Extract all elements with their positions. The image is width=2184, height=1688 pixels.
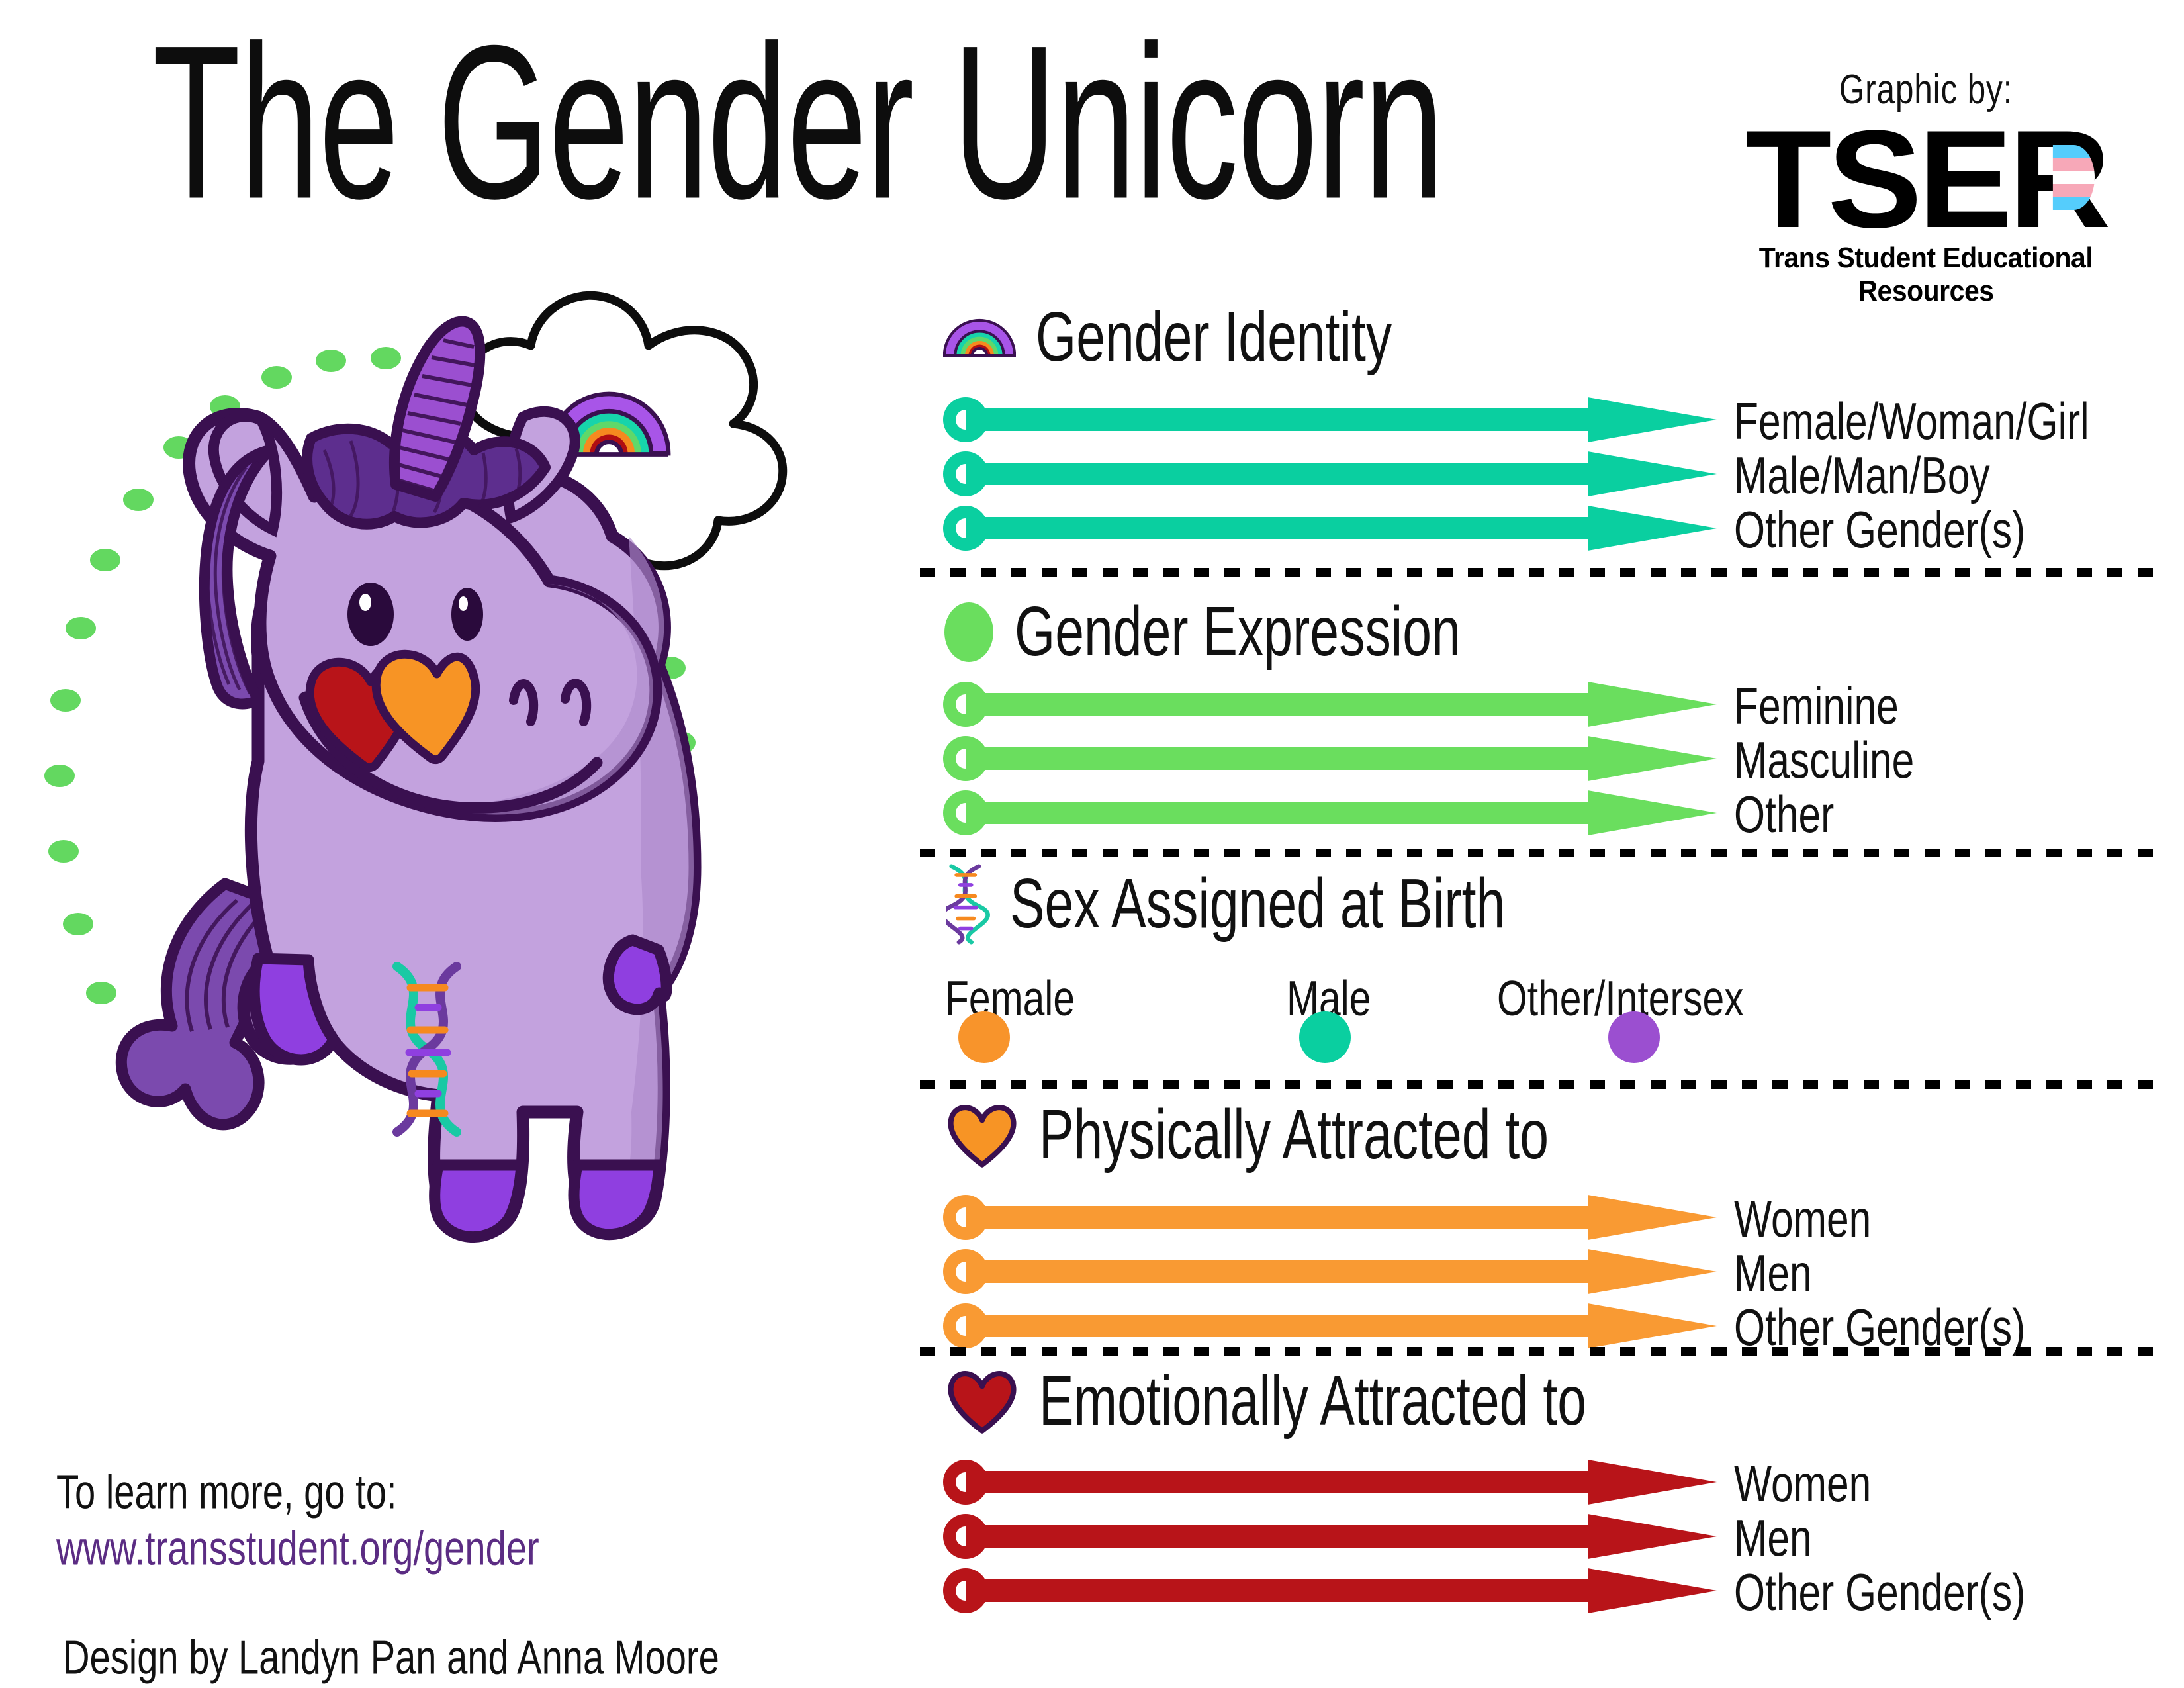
row-label: Other Gender(s) xyxy=(1734,1564,2025,1622)
row-label: Female/Woman/Girl xyxy=(1734,393,2089,451)
trans-flag-icon xyxy=(2053,145,2095,210)
row-arrowhead xyxy=(1588,1303,1717,1348)
section-title: Gender Expression xyxy=(1015,592,1461,673)
row-shaft xyxy=(966,463,1588,485)
sab-dot-intersex[interactable] xyxy=(1608,1011,1660,1063)
section-divider-2 xyxy=(920,849,2154,857)
sab-dot-male[interactable] xyxy=(1299,1011,1351,1063)
row-arrowhead xyxy=(1588,1514,1717,1559)
row-label: Men xyxy=(1734,1244,1812,1303)
row-label: Other Gender(s) xyxy=(1734,501,2025,560)
row-label: Women xyxy=(1734,1190,1871,1249)
row-arrowhead xyxy=(1588,1249,1717,1294)
design-credit-label: Design by Landyn Pan and Anna Moore xyxy=(63,1629,719,1685)
section-title: Sex Assigned at Birth xyxy=(1010,865,1505,945)
tser-subtitle: Trans Student Educational Resources xyxy=(1735,242,2117,308)
dna-icon xyxy=(946,864,990,945)
row-shaft xyxy=(966,747,1588,770)
row-shaft xyxy=(966,408,1588,431)
row-arrowhead xyxy=(1588,451,1717,496)
row-arrowhead xyxy=(1588,682,1717,727)
row-shaft xyxy=(966,802,1588,824)
sab-dot-female[interactable] xyxy=(958,1011,1010,1063)
row-shaft xyxy=(966,1525,1588,1548)
row-arrowhead xyxy=(1588,790,1717,835)
red-heart-icon xyxy=(945,1368,1019,1434)
row-label: Feminine xyxy=(1734,677,1899,736)
section-header-physically-attracted-to: Physically Attracted to xyxy=(945,1099,1661,1172)
orange-heart-icon xyxy=(945,1102,1019,1168)
row-shaft xyxy=(966,1315,1588,1337)
row-arrowhead xyxy=(1588,736,1717,781)
row-shaft xyxy=(966,1579,1588,1602)
row-shaft xyxy=(966,1260,1588,1283)
rainbow-icon xyxy=(943,315,1016,360)
green-circle-icon xyxy=(943,602,995,663)
section-divider-4 xyxy=(920,1347,2154,1356)
row-shaft xyxy=(966,693,1588,716)
section-header-sex-assigned-at-birth: Sex Assigned at Birth xyxy=(946,864,1614,945)
row-label: Women xyxy=(1734,1455,1871,1514)
row-label: Other xyxy=(1734,786,1834,845)
section-header-gender-expression: Gender Expression xyxy=(943,596,1559,669)
sab-label-female: Female xyxy=(945,970,1075,1027)
row-label: Masculine xyxy=(1734,731,1914,790)
row-shaft xyxy=(966,1471,1588,1493)
section-title: Physically Attracted to xyxy=(1039,1096,1549,1176)
tser-wordmark: TSER xyxy=(1745,113,2107,246)
row-label: Male/Man/Boy xyxy=(1734,447,1990,506)
gender-unicorn-character xyxy=(60,285,874,1397)
section-title: Emotionally Attracted to xyxy=(1039,1362,1586,1442)
learn-more-label: To learn more, go to: xyxy=(56,1464,397,1519)
tser-logo: Graphic by: TSER Trans Student Education… xyxy=(1721,66,2131,308)
row-shaft xyxy=(966,1206,1588,1229)
row-label: Men xyxy=(1734,1509,1812,1568)
row-arrowhead xyxy=(1588,1568,1717,1613)
row-arrowhead xyxy=(1588,506,1717,551)
section-divider-1 xyxy=(920,568,2154,577)
row-arrowhead xyxy=(1588,397,1717,442)
section-title: Gender Identity xyxy=(1036,298,1392,378)
website-link[interactable]: www.transstudent.org/gender xyxy=(56,1520,539,1575)
section-divider-3 xyxy=(920,1080,2154,1089)
page-title: The Gender Unicorn xyxy=(152,13,1443,232)
row-arrowhead xyxy=(1588,1460,1717,1505)
row-shaft xyxy=(966,517,1588,539)
section-header-emotionally-attracted-to: Emotionally Attracted to xyxy=(945,1365,1707,1438)
section-header-gender-identity: Gender Identity xyxy=(943,301,1470,374)
row-arrowhead xyxy=(1588,1195,1717,1240)
